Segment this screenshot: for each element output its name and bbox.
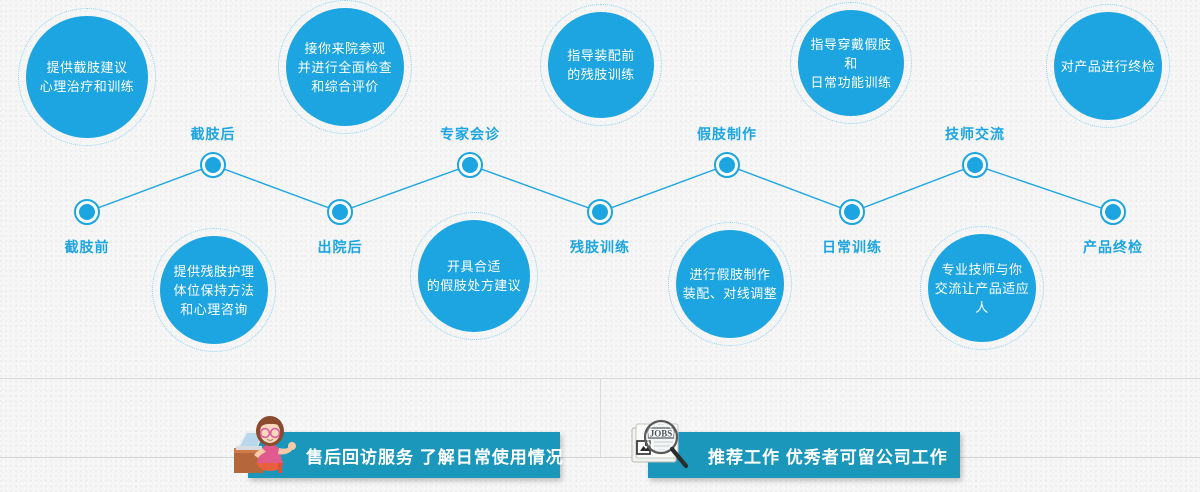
bubble-8-inner: 对产品进行终检 [1054, 12, 1162, 120]
flow-node-label-5: 假肢制作 [697, 124, 757, 144]
bubble-1-inner: 提供残肢护理 体位保持方法 和心理咨询 [160, 236, 268, 344]
bubble-4-text: 指导装配前 的残肢训练 [561, 46, 641, 84]
flow-node-6[interactable] [839, 199, 865, 225]
banner-connector-left [0, 457, 250, 458]
flow-node-2[interactable] [327, 199, 353, 225]
flow-node-label-3: 专家会诊 [440, 124, 500, 144]
banner-job-recommendation-text: 推荐工作 优秀者可留公司工作 [708, 443, 948, 468]
flow-node-4[interactable] [587, 199, 613, 225]
infographic-stage: 提供截肢建议 心理治疗和训练 提供残肢护理 体位保持方法 和心理咨询 接你来院参… [0, 0, 1200, 492]
flow-node-label-4: 残肢训练 [570, 237, 630, 257]
bubble-6: 指导穿戴假肢和 日常功能训练 [790, 2, 912, 124]
banner-after-sales-text: 售后回访服务 了解日常使用情况 [306, 443, 564, 468]
bubble-4-inner: 指导装配前 的残肢训练 [548, 12, 654, 118]
bubble-2: 接你来院参观 并进行全面检查 和综合评价 [278, 0, 412, 134]
flow-node-5[interactable] [714, 152, 740, 178]
bubble-6-text: 指导穿戴假肢和 日常功能训练 [798, 35, 904, 92]
bubble-0-inner: 提供截肢建议 心理治疗和训练 [26, 16, 148, 138]
flow-node-label-6: 日常训练 [822, 237, 882, 257]
banner-job-recommendation[interactable]: 推荐工作 优秀者可留公司工作 [648, 432, 960, 478]
job-search-magnifier-icon: JOBS [628, 414, 694, 476]
flow-node-3[interactable] [457, 152, 483, 178]
bubble-7-inner: 专业技师与你 交流让产品适应人 [928, 234, 1036, 342]
bubble-2-inner: 接你来院参观 并进行全面检查 和综合评价 [286, 8, 404, 126]
flow-node-8[interactable] [1100, 199, 1126, 225]
bubble-4: 指导装配前 的残肢训练 [540, 4, 662, 126]
bubble-5-text: 进行假肢制作 装配、对线调整 [677, 265, 784, 303]
bubble-7-text: 专业技师与你 交流让产品适应人 [928, 260, 1036, 317]
bubble-0-text: 提供截肢建议 心理治疗和训练 [34, 58, 141, 96]
bubble-3: 开具合适 的假肢处方建议 [410, 212, 538, 340]
bubble-6-inner: 指导穿戴假肢和 日常功能训练 [798, 10, 904, 116]
flow-node-label-7: 技师交流 [945, 124, 1005, 144]
bubble-1-text: 提供残肢护理 体位保持方法 和心理咨询 [167, 262, 260, 319]
bubble-7: 专业技师与你 交流让产品适应人 [920, 226, 1044, 350]
flow-node-1[interactable] [200, 152, 226, 178]
customer-service-woman-icon [232, 415, 298, 477]
bubble-1: 提供残肢护理 体位保持方法 和心理咨询 [152, 228, 276, 352]
bubble-0: 提供截肢建议 心理治疗和训练 [18, 8, 156, 146]
flow-node-7[interactable] [962, 152, 988, 178]
flow-node-label-2: 出院后 [318, 237, 363, 257]
bubble-8-text: 对产品进行终检 [1055, 57, 1162, 76]
flow-node-label-8: 产品终检 [1083, 237, 1143, 257]
bubble-5-inner: 进行假肢制作 装配、对线调整 [676, 230, 784, 338]
flow-node-label-0: 截肢前 [65, 237, 110, 257]
bubble-2-text: 接你来院参观 并进行全面检查 和综合评价 [292, 39, 399, 96]
banner-connector-right [958, 457, 1200, 458]
bubble-8: 对产品进行终检 [1046, 4, 1170, 128]
flow-node-label-1: 截肢后 [191, 124, 236, 144]
bubble-3-inner: 开具合适 的假肢处方建议 [418, 220, 530, 332]
bubble-5: 进行假肢制作 装配、对线调整 [668, 222, 792, 346]
flow-node-0[interactable] [74, 199, 100, 225]
section-divider-vertical [600, 378, 601, 457]
bubble-3-text: 开具合适 的假肢处方建议 [421, 257, 528, 295]
